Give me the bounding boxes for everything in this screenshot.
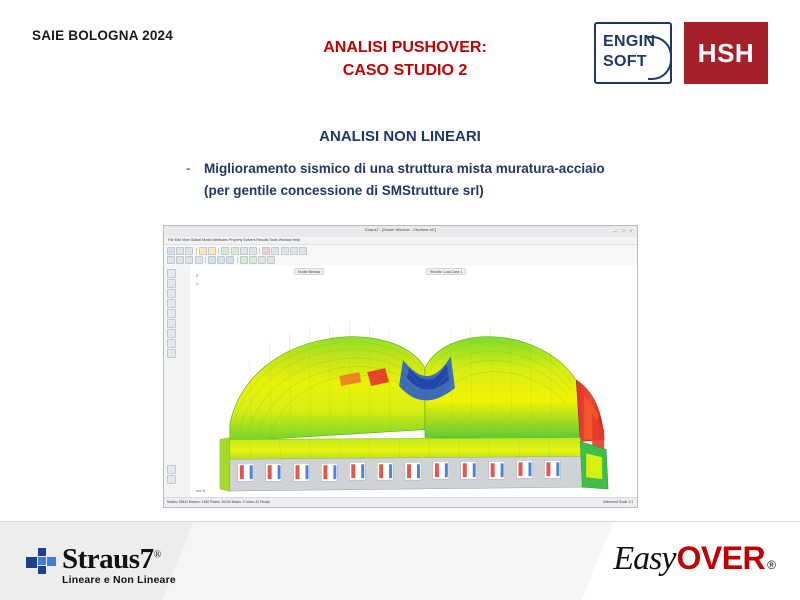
view-iso-icon[interactable]	[226, 256, 234, 264]
results-icon[interactable]	[271, 247, 279, 255]
grid-icon[interactable]	[290, 247, 298, 255]
bullet-list: - Miglioramento sismico di una struttura…	[186, 158, 706, 203]
straus7-logo: Straus7® Lineare e Non Lineare	[26, 544, 176, 586]
tool-attribute-icon[interactable]	[167, 349, 176, 358]
straus7-name: Straus7®	[62, 544, 176, 574]
app-left-toolbar[interactable]	[164, 265, 191, 497]
rotate-icon[interactable]	[249, 247, 257, 255]
view-top-icon[interactable]	[217, 256, 225, 264]
embedded-screenshot: Straus7 - [Model Window - Strutture.st7]…	[163, 225, 638, 508]
status-scale: Deformed Scale 1:1	[603, 500, 633, 504]
toolbar-separator	[205, 257, 206, 263]
hsh-logo-text: HSH	[698, 38, 754, 69]
toolbar-row-bottom[interactable]	[167, 256, 275, 263]
straus7-wordmark: Straus7® Lineare e Non Lineare	[62, 544, 176, 586]
tool-beam-icon[interactable]	[167, 289, 176, 298]
page-title-line1: ANALISI PUSHOVER:	[240, 36, 570, 59]
bullet-text-line2: (per gentile concessione di SMStrutture …	[204, 180, 605, 202]
select-node-icon[interactable]	[167, 256, 175, 264]
toolbar-separator	[237, 257, 238, 263]
window-controls[interactable]: — □ ×	[613, 228, 634, 233]
svg-text:Z: Z	[196, 273, 199, 278]
settings-icon[interactable]	[281, 247, 289, 255]
view-front-icon[interactable]	[208, 256, 216, 264]
pan-icon[interactable]	[240, 247, 248, 255]
app-statusbar: Nodes: 28442 Beams: 1386 Plates: 26184 B…	[164, 497, 637, 507]
toolbar-row-top[interactable]	[167, 247, 307, 254]
enginsoft-logo-line2: SOFT	[603, 53, 647, 71]
slide: SAIE BOLOGNA 2024 ANALISI PUSHOVER: CASO…	[0, 0, 800, 600]
open-file-icon[interactable]	[176, 247, 184, 255]
event-label: SAIE BOLOGNA 2024	[32, 28, 173, 43]
undo-icon[interactable]	[199, 247, 207, 255]
select-plate-icon[interactable]	[185, 256, 193, 264]
app-window-title: Straus7 - [Model Window - Strutture.st7]	[365, 227, 436, 232]
help-icon[interactable]	[299, 247, 307, 255]
freebody-icon[interactable]	[258, 256, 266, 264]
bullet-dash-icon: -	[186, 158, 204, 180]
svg-text:X: X	[196, 281, 199, 286]
bullet-text-line1: Miglioramento sismico di una struttura m…	[204, 161, 605, 176]
tool-axes-icon[interactable]	[167, 465, 176, 474]
contour-icon[interactable]	[240, 256, 248, 264]
zoom-out-icon[interactable]	[231, 247, 239, 255]
easyover-registered-icon: ®	[767, 558, 776, 572]
model-canvas[interactable]: Model Window Results: Load Case 1	[190, 265, 637, 497]
easyover-easy-text: Easy	[613, 540, 675, 578]
redo-icon[interactable]	[208, 247, 216, 255]
tool-load-icon[interactable]	[167, 339, 176, 348]
canvas-units-label: mm N	[196, 489, 205, 493]
list-item: - Miglioramento sismico di una struttura…	[186, 158, 706, 203]
straus7-name-text: Straus7	[62, 543, 154, 575]
tool-select-icon[interactable]	[167, 269, 176, 278]
straus7-registered-icon: ®	[154, 549, 161, 560]
select-beam-icon[interactable]	[176, 256, 184, 264]
new-file-icon[interactable]	[167, 247, 175, 255]
footer: Straus7® Lineare e Non Lineare Easy OVER…	[0, 521, 800, 600]
save-icon[interactable]	[185, 247, 193, 255]
straus7-mark-icon	[26, 548, 56, 578]
easyover-logo: Easy OVER ®	[613, 540, 776, 578]
toolbar-separator	[196, 248, 197, 254]
section-title: ANALISI NON LINEARI	[0, 128, 800, 145]
toolbar-separator	[218, 248, 219, 254]
zoom-in-icon[interactable]	[221, 247, 229, 255]
easyover-over-text: OVER	[676, 540, 765, 577]
toolbar-separator	[259, 248, 260, 254]
straus7-tagline: Lineare e Non Lineare	[62, 574, 176, 586]
tool-restraint-icon[interactable]	[167, 329, 176, 338]
tool-link-icon[interactable]	[167, 319, 176, 328]
hsh-logo: HSH	[684, 22, 768, 84]
enginsoft-logo: ENGIN SOFT	[594, 22, 672, 84]
bullet-text: Miglioramento sismico di una struttura m…	[204, 158, 605, 203]
tool-legend-icon[interactable]	[167, 475, 176, 484]
fem-model-render: Z X	[190, 265, 637, 497]
deform-icon[interactable]	[249, 256, 257, 264]
page-title-line2: CASO STUDIO 2	[240, 59, 570, 82]
status-text: Nodes: 28442 Beams: 1386 Plates: 26184 B…	[167, 500, 270, 504]
app-menubar[interactable]: File Edit View Global Model Attributes P…	[164, 237, 637, 245]
tool-plate-icon[interactable]	[167, 299, 176, 308]
measure-icon[interactable]	[267, 256, 275, 264]
solve-icon[interactable]	[262, 247, 270, 255]
tool-node-icon[interactable]	[167, 279, 176, 288]
app-toolbar[interactable]	[164, 245, 637, 266]
enginsoft-logo-line1: ENGIN	[603, 33, 655, 51]
select-brick-icon[interactable]	[195, 256, 203, 264]
tool-brick-icon[interactable]	[167, 309, 176, 318]
footer-shape-right	[146, 521, 635, 600]
page-title: ANALISI PUSHOVER: CASO STUDIO 2	[240, 36, 570, 82]
